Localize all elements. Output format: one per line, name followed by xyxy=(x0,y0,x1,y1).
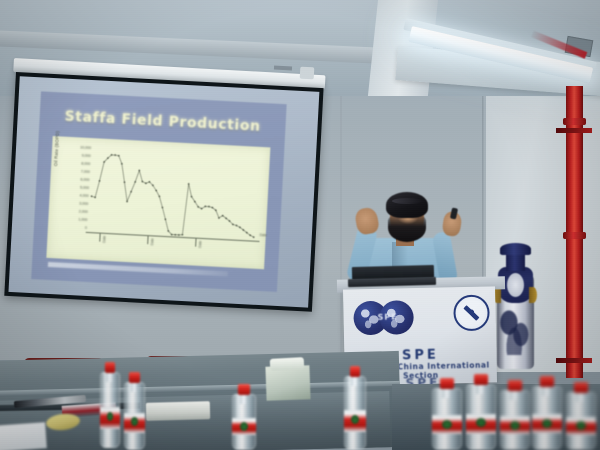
chart-data-point xyxy=(178,234,180,236)
y-tick-label: 7,000 xyxy=(81,171,90,175)
water-bottle[interactable] xyxy=(532,376,562,450)
screen-roller-endcap xyxy=(300,67,315,80)
chart-data-point xyxy=(161,206,163,208)
water-bottle[interactable] xyxy=(500,380,530,450)
y-tick-label: 4,000 xyxy=(79,195,88,199)
water-bottle[interactable] xyxy=(232,384,256,450)
y-tick-label: 6,000 xyxy=(80,179,89,183)
bottle-label-mark xyxy=(351,415,358,424)
chart-data-point xyxy=(141,180,143,182)
y-tick-label: 10,000 xyxy=(80,146,91,150)
y-tick-label: 2,000 xyxy=(79,211,88,215)
chart-data-point xyxy=(208,206,210,208)
chart-data-point xyxy=(123,181,125,183)
chart-y-axis-ticks: 10,0009,0008,0007,0006,0005,0004,0003,00… xyxy=(61,146,91,231)
bottle-label-mark xyxy=(107,412,113,421)
x-tick-label: Date xyxy=(150,238,154,245)
chart-data-point xyxy=(118,155,120,157)
bottle-label-mark xyxy=(476,418,486,427)
bottle-cap xyxy=(474,374,488,385)
tissue-box-top xyxy=(270,357,305,371)
bottle-cap xyxy=(508,380,522,391)
y-tick-label: 1,000 xyxy=(78,219,87,223)
bottle-label-mark xyxy=(510,421,520,430)
porcelain-vase xyxy=(493,243,537,369)
chart-data-point xyxy=(145,182,147,184)
chart-data-point xyxy=(114,154,116,156)
x-tick-mark xyxy=(147,236,148,244)
chart-data-point xyxy=(134,181,136,183)
x-tick-label: Date xyxy=(198,241,202,248)
chart-data-point xyxy=(158,195,160,197)
chart-line xyxy=(90,154,258,239)
production-chart: Oil Rate (BOPD) 10,0009,0008,0007,0006,0… xyxy=(46,136,270,269)
y-tick-label: 0 xyxy=(85,227,87,231)
chart-data-point xyxy=(188,183,190,185)
x-tick-label: Date xyxy=(102,236,106,243)
chart-data-point xyxy=(164,218,166,220)
chart-data-point xyxy=(181,234,183,236)
chart-data-point xyxy=(94,196,96,198)
chart-data-point xyxy=(121,163,123,165)
chart-data-point xyxy=(91,195,93,197)
chinese-organization-seal xyxy=(453,295,490,332)
conference-room-photo: Staffa Field Production Oil Rate (BOPD) … xyxy=(0,0,600,450)
pipe-bracket xyxy=(556,358,592,363)
vase-mouth xyxy=(500,243,531,255)
presentation-slide: Staffa Field Production Oil Rate (BOPD) … xyxy=(31,91,287,292)
spe-globe-logo: SPE xyxy=(353,296,422,337)
water-bottle[interactable] xyxy=(566,382,596,450)
wall-corner-secondary xyxy=(340,60,342,360)
bottle-label-mark xyxy=(576,421,586,430)
bottle-cap xyxy=(129,372,139,383)
y-tick-label: 3,000 xyxy=(79,203,88,207)
x-tick-mark xyxy=(195,239,196,247)
speaker-turban xyxy=(386,192,428,218)
bottle-cap xyxy=(350,366,361,377)
chart-data-point xyxy=(99,180,101,182)
chart-data-point xyxy=(126,201,128,203)
chart-plot-area xyxy=(88,146,260,241)
water-bottle[interactable] xyxy=(432,378,462,450)
water-bottle[interactable] xyxy=(466,374,496,450)
pipe-collar xyxy=(563,118,586,125)
bottle-label-mark xyxy=(542,419,552,428)
chart-data-point xyxy=(130,191,132,193)
turban-fold xyxy=(392,198,423,204)
vase-medallion xyxy=(507,273,524,297)
bottle-cap xyxy=(238,384,250,395)
vase-decoration xyxy=(499,301,532,355)
pipe-collar xyxy=(563,232,586,239)
vase-handle-right xyxy=(529,287,537,303)
pipe-bracket xyxy=(556,128,592,133)
chart-data-point xyxy=(138,170,140,172)
y-tick-label: 9,000 xyxy=(82,155,91,159)
bottle-cap xyxy=(574,382,588,393)
papers xyxy=(0,422,47,450)
water-bottle[interactable] xyxy=(124,372,145,450)
slide-title: Staffa Field Production xyxy=(39,107,286,136)
bottle-cap xyxy=(540,376,554,387)
chart-y-axis-label: Oil Rate (BOPD) xyxy=(53,131,60,167)
screen-surface: Staffa Field Production Oil Rate (BOPD) … xyxy=(8,76,319,307)
serving-tray[interactable] xyxy=(146,401,210,421)
y-tick-label: 8,000 xyxy=(81,163,90,167)
bottle-label-mark xyxy=(131,417,138,426)
projection-screen[interactable]: Staffa Field Production Oil Rate (BOPD) … xyxy=(4,72,323,312)
chart-data-point xyxy=(174,234,176,236)
chart-data-point xyxy=(253,236,255,238)
chart-line-svg xyxy=(88,146,260,241)
chart-x-axis-end-label: Date xyxy=(260,233,267,237)
water-bottle[interactable] xyxy=(344,366,366,450)
bottle-cap xyxy=(440,378,454,389)
bottle-cap xyxy=(105,362,115,373)
water-bottle[interactable] xyxy=(100,362,120,448)
bottle-label-mark xyxy=(442,420,452,429)
y-tick-label: 5,000 xyxy=(80,187,89,191)
bottle-label-mark xyxy=(240,422,248,431)
x-tick-mark xyxy=(99,234,100,242)
spe-logo-text: SPE xyxy=(368,312,408,325)
